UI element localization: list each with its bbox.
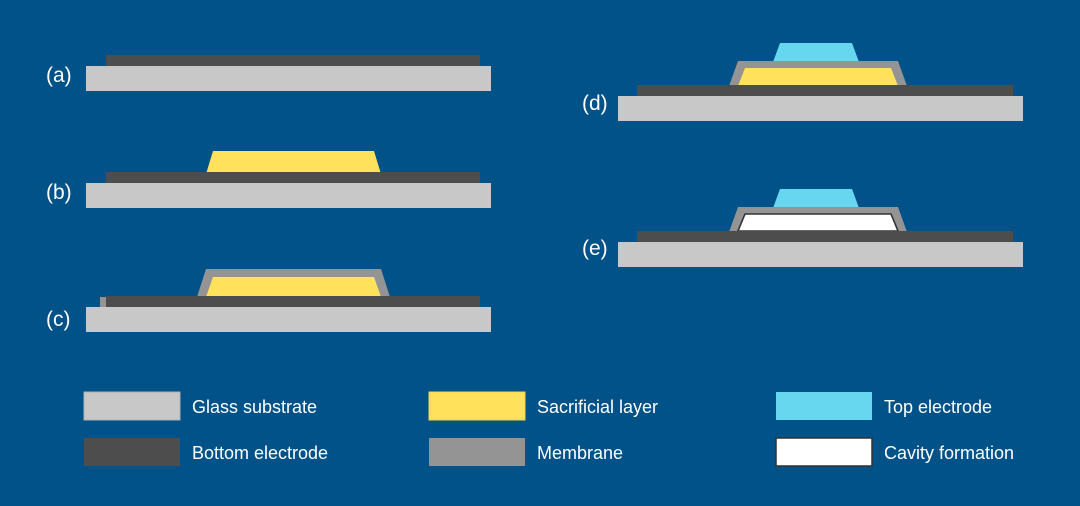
- legend-label-glass-substrate: Glass substrate: [192, 397, 317, 417]
- legend-label-membrane: Membrane: [537, 443, 623, 463]
- panel-e-label: (e): [582, 237, 608, 260]
- panel-d-label: (d): [582, 92, 608, 115]
- panel-e-bottom-electrode: [637, 231, 1013, 242]
- panel-a: (a): [46, 55, 491, 91]
- panel-d-top-electrode: [773, 43, 859, 62]
- panel-d-bottom-electrode: [637, 85, 1013, 96]
- panel-e-top-electrode: [773, 189, 859, 208]
- legend-swatch-cavity-formation: [776, 438, 872, 466]
- panel-b-sacrificial-layer: [206, 151, 381, 174]
- figure-root: (a) (b) (c) (d): [0, 0, 1080, 506]
- panel-c-glass-substrate: [86, 307, 491, 332]
- legend: Glass substrate Bottom electrode Sacrifi…: [84, 392, 1014, 466]
- legend-item-sacrificial-layer: Sacrificial layer: [429, 392, 658, 420]
- panel-b-label: (b): [46, 181, 72, 204]
- process-flow-diagram: (a) (b) (c) (d): [0, 0, 1080, 506]
- panel-d: (d): [582, 43, 1023, 121]
- legend-label-top-electrode: Top electrode: [884, 397, 992, 417]
- legend-swatch-membrane: [429, 438, 525, 466]
- panel-b: (b): [46, 151, 491, 208]
- panel-c-sacrificial-layer: [206, 277, 381, 297]
- panel-e-cavity-formation: [738, 214, 898, 231]
- legend-swatch-glass-substrate: [84, 392, 180, 420]
- panel-e: (e): [582, 189, 1023, 267]
- panel-b-glass-substrate: [86, 183, 491, 208]
- panel-a-glass-substrate: [86, 66, 491, 91]
- legend-label-bottom-electrode: Bottom electrode: [192, 443, 328, 463]
- panel-c-bottom-electrode: [106, 296, 480, 307]
- panel-d-glass-substrate: [618, 96, 1023, 121]
- panel-d-sacrificial-layer: [738, 68, 898, 86]
- legend-label-sacrificial-layer: Sacrificial layer: [537, 397, 658, 417]
- panel-c-label: (c): [46, 308, 71, 331]
- legend-item-bottom-electrode: Bottom electrode: [84, 438, 328, 466]
- legend-item-glass-substrate: Glass substrate: [84, 392, 317, 420]
- legend-label-cavity-formation: Cavity formation: [884, 443, 1014, 463]
- legend-item-cavity-formation: Cavity formation: [776, 438, 1014, 466]
- panel-a-bottom-electrode: [106, 55, 480, 66]
- legend-item-top-electrode: Top electrode: [776, 392, 992, 420]
- legend-swatch-bottom-electrode: [84, 438, 180, 466]
- panel-e-glass-substrate: [618, 242, 1023, 267]
- panel-c: (c): [46, 269, 491, 332]
- legend-swatch-top-electrode: [776, 392, 872, 420]
- panel-b-bottom-electrode: [106, 172, 480, 183]
- panel-a-label: (a): [46, 64, 72, 87]
- legend-swatch-sacrificial-layer: [429, 392, 525, 420]
- legend-item-membrane: Membrane: [429, 438, 623, 466]
